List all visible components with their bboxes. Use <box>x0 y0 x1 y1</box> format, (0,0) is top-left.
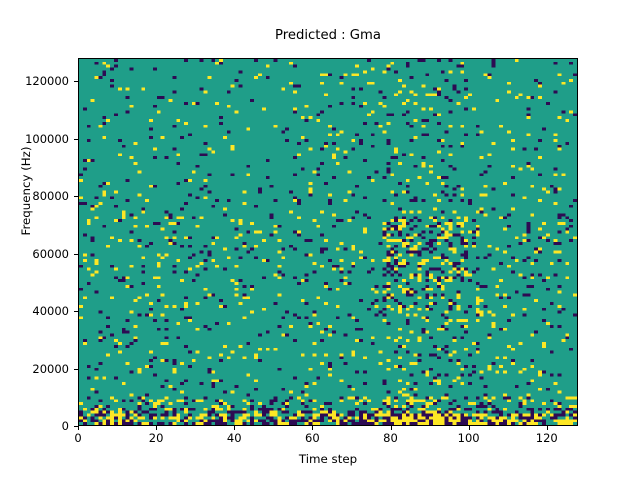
x-tick-mark <box>469 426 470 430</box>
y-tick-mark <box>74 139 78 140</box>
y-tick-label: 120000 <box>0 75 69 87</box>
y-tick-mark <box>74 311 78 312</box>
x-tick-label: 20 <box>131 432 181 444</box>
x-tick-label: 100 <box>444 432 494 444</box>
x-tick-label: 80 <box>366 432 416 444</box>
x-tick-mark <box>547 426 548 430</box>
x-tick-label: 120 <box>522 432 572 444</box>
x-tick-mark <box>234 426 235 430</box>
x-tick-mark <box>391 426 392 430</box>
y-tick-mark <box>74 369 78 370</box>
x-tick-mark <box>78 426 79 430</box>
y-tick-mark <box>74 254 78 255</box>
y-tick-label: 80000 <box>0 190 69 202</box>
heatmap-image <box>79 59 577 425</box>
x-tick-label: 60 <box>287 432 337 444</box>
x-tick-label: 0 <box>53 432 103 444</box>
y-tick-label: 40000 <box>0 305 69 317</box>
y-tick-mark <box>74 196 78 197</box>
y-axis-label: Frequency (Hz) <box>19 101 33 281</box>
x-tick-label: 40 <box>209 432 259 444</box>
y-tick-mark <box>74 81 78 82</box>
page-title: Predicted : Gma <box>78 28 578 44</box>
x-tick-mark <box>312 426 313 430</box>
y-tick-mark <box>74 426 78 427</box>
matplotlib-figure: Predicted : Gma 020406080100120020000400… <box>0 0 640 480</box>
x-tick-mark <box>156 426 157 430</box>
x-axis-label: Time step <box>78 452 578 466</box>
y-tick-label: 60000 <box>0 248 69 260</box>
heatmap-plot-area[interactable] <box>78 58 578 426</box>
y-tick-label: 100000 <box>0 133 69 145</box>
y-tick-label: 20000 <box>0 363 69 375</box>
y-tick-label: 0 <box>0 420 69 432</box>
